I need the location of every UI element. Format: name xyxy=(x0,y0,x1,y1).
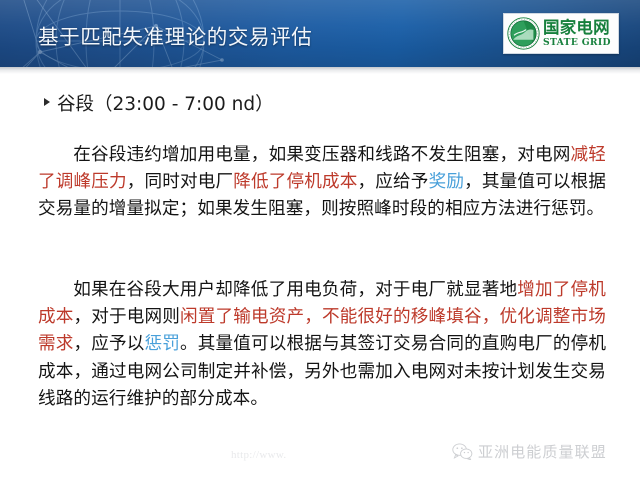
bullet-heading-label: 谷段（23:00 - 7:00 nd） xyxy=(57,90,274,116)
brand-watermark: 亚洲电能质量联盟 xyxy=(452,441,607,462)
text-run-blue: 惩罚 xyxy=(145,334,181,354)
bullet-heading: 谷段（23:00 - 7:00 nd） xyxy=(44,90,274,116)
text-run-normal: ，应给予 xyxy=(358,172,429,192)
header-drop-shadow xyxy=(0,67,640,74)
slide-canvas: 基于匹配失准理论的交易评估 国家电网 STATE GRID xyxy=(0,0,640,480)
slide-content: 谷段（23:00 - 7:00 nd） 在谷段违约增加用电量，如果变压器和线路不… xyxy=(0,74,640,480)
logo-english-name: STATE GRID xyxy=(543,38,611,47)
slide-header-banner: 基于匹配失准理论的交易评估 国家电网 STATE GRID xyxy=(0,0,640,67)
text-run-normal: ，应予以 xyxy=(74,334,145,354)
state-grid-globe-icon xyxy=(507,17,540,50)
text-run-blue: 奖励 xyxy=(429,172,465,192)
text-run-normal: 在谷段违约增加用电量，如果变压器和线路不发生阻塞，对电网 xyxy=(73,145,570,165)
triangle-bullet-icon xyxy=(44,98,50,106)
url-watermark: http://www. xyxy=(231,449,286,461)
page-title: 基于匹配失准理论的交易评估 xyxy=(38,20,312,50)
text-run-normal: 如果在谷段大用户却降低了用电负荷，对于电厂就显著地 xyxy=(73,280,517,300)
text-run-red: 降低了停机成本 xyxy=(233,172,357,192)
brand-watermark-label: 亚洲电能质量联盟 xyxy=(478,441,607,462)
logo-chinese-name: 国家电网 xyxy=(543,20,611,37)
state-grid-logo: 国家电网 STATE GRID xyxy=(503,13,619,54)
text-run-normal: ，同时对电厂 xyxy=(127,172,234,192)
text-run-normal: ，对于电网则 xyxy=(74,307,181,327)
wechat-icon xyxy=(452,443,473,460)
logo-wordmark: 国家电网 STATE GRID xyxy=(543,20,611,48)
paragraph-1: 在谷段违约增加用电量，如果变压器和线路不发生阻塞，对电网减轻了调峰压力，同时对电… xyxy=(38,142,606,224)
paragraph-2: 如果在谷段大用户却降低了用电负荷，对于电厂就显著地增加了停机成本，对于电网则闲置… xyxy=(38,277,606,414)
